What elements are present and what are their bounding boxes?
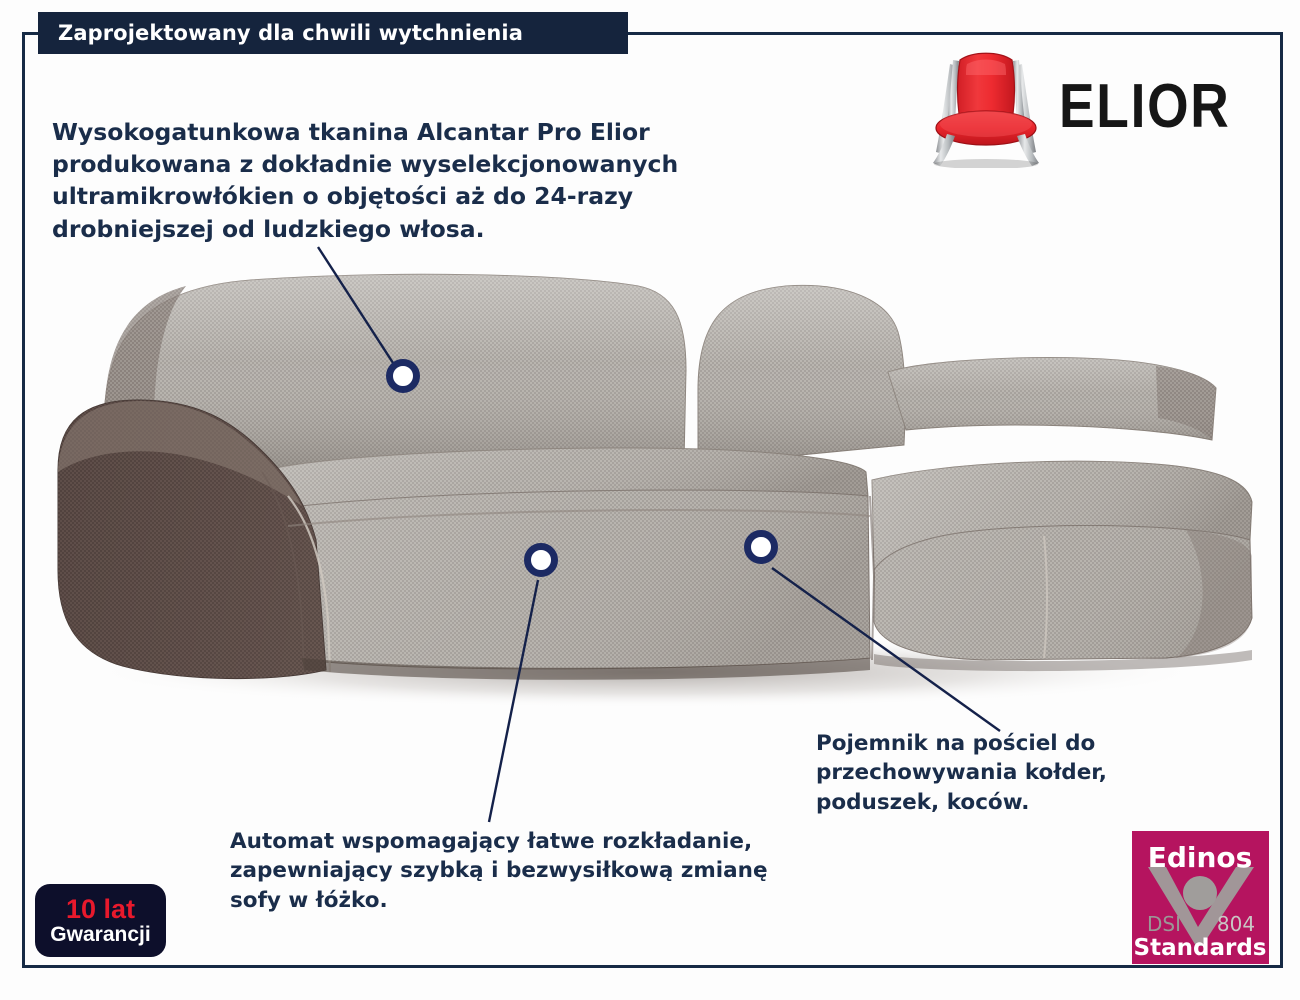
brand-name: ELIOR: [1059, 76, 1231, 138]
edinos-standards-text: Standards: [1134, 935, 1267, 961]
infographic-page: Zaprojektowany dla chwili wytchnienia: [0, 0, 1300, 1000]
edinos-brand-text: Edinos: [1148, 841, 1253, 874]
edinos-dsi-text: DSI: [1147, 912, 1181, 936]
warranty-badge: 10 lat Gwarancji: [35, 884, 166, 957]
fabric-callout-marker[interactable]: [386, 359, 420, 393]
brand-logo: ELIOR: [927, 46, 1258, 168]
mechanism-description: Automat wspomagający łatwe rozkładanie, …: [230, 827, 770, 915]
red-chair-icon: [927, 46, 1045, 168]
warranty-years: 10 lat: [66, 896, 135, 923]
sofa-illustration: [26, 240, 1276, 710]
storage-callout-marker[interactable]: [744, 530, 778, 564]
edinos-code-text: 804: [1217, 912, 1255, 936]
edinos-certificate-badge: Edinos DSI 804 Standards: [1132, 831, 1269, 964]
fabric-description: Wysokogatunkowa tkanina Alcantar Pro Eli…: [52, 116, 752, 245]
warranty-label: Gwarancji: [50, 924, 150, 945]
header-banner: Zaprojektowany dla chwili wytchnienia: [38, 12, 628, 54]
sofa-product-image: [26, 240, 1276, 710]
storage-description: Pojemnik na pościel do przechowywania ko…: [816, 729, 1206, 817]
edinos-badge-graphic: Edinos DSI 804 Standards: [1132, 831, 1269, 964]
mechanism-callout-marker[interactable]: [524, 543, 558, 577]
banner-title: Zaprojektowany dla chwili wytchnienia: [58, 21, 523, 45]
